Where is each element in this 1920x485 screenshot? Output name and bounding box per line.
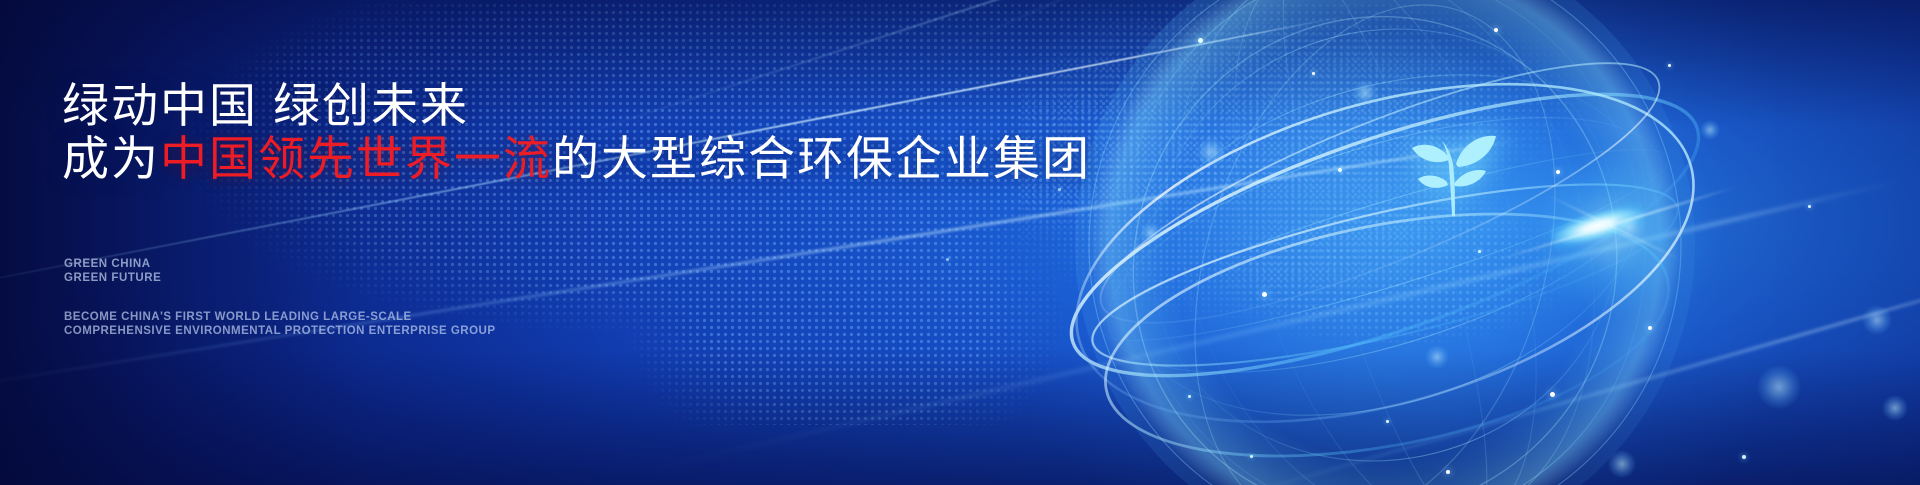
banner-copy: 绿动中国 绿创未来 成为中国领先世界一流的大型综合环保企业集团 GREEN CH… [62,0,1062,485]
globe-sphere [1075,0,1695,485]
bokeh-dot [1196,137,1226,167]
particle [1808,205,1811,208]
globe-wireframe-icon [1075,0,1695,485]
particle [1446,470,1450,474]
hero-banner: 绿动中国 绿创未来 成为中国领先世界一流的大型综合环保企业集团 GREEN CH… [0,0,1920,485]
bokeh-dot [1882,395,1908,421]
sprout-glyph [1392,104,1512,224]
tagline-english-line-2: COMPREHENSIVE ENVIRONMENTAL PROTECTION E… [64,325,496,339]
particle [1250,455,1253,458]
particle [1668,64,1671,67]
particle [1648,326,1652,330]
flare-ray [1495,186,1735,261]
light-flare [1530,175,1700,285]
particle [1386,420,1389,423]
headline-prefix: 成为 [62,132,160,185]
bokeh-dot [1352,80,1378,106]
bokeh-dot [1140,222,1162,244]
dotted-world-map-right [1020,20,1580,350]
particle [1494,28,1498,32]
tagline-english-line-1: BECOME CHINA'S FIRST WORLD LEADING LARGE… [64,311,496,325]
particle [1262,292,1267,297]
flare-halo [1495,150,1735,315]
wireframe-globe [1075,0,1695,485]
headline-line-2: 成为中国领先世界一流的大型综合环保企业集团 [62,135,1091,182]
globe-glow [995,0,1775,485]
bokeh-dot [1608,450,1636,478]
headline-suffix: 的大型综合环保企业集团 [552,132,1091,185]
sprout-leaf-icon [1392,104,1512,224]
light-streak [1150,272,1920,485]
flare-ray [1547,194,1682,261]
particle [1742,455,1746,459]
bokeh-dot [1700,120,1720,140]
particle [1550,392,1555,397]
subtitle-english-line-2: GREEN FUTURE [64,272,161,286]
headline-highlight: 中国领先世界一流 [160,132,552,185]
subtitle-english: GREEN CHINA GREEN FUTURE [64,258,161,285]
bokeh-dot [1425,345,1449,369]
particle [1188,395,1191,398]
headline-line-1: 绿动中国 绿创未来 [62,82,469,129]
tagline-english: BECOME CHINA'S FIRST WORLD LEADING LARGE… [64,311,496,338]
particle [1478,250,1481,253]
subtitle-english-line-1: GREEN CHINA [64,258,161,272]
bokeh-dot [1757,365,1801,409]
particle [1556,170,1560,174]
particle [1312,72,1315,75]
